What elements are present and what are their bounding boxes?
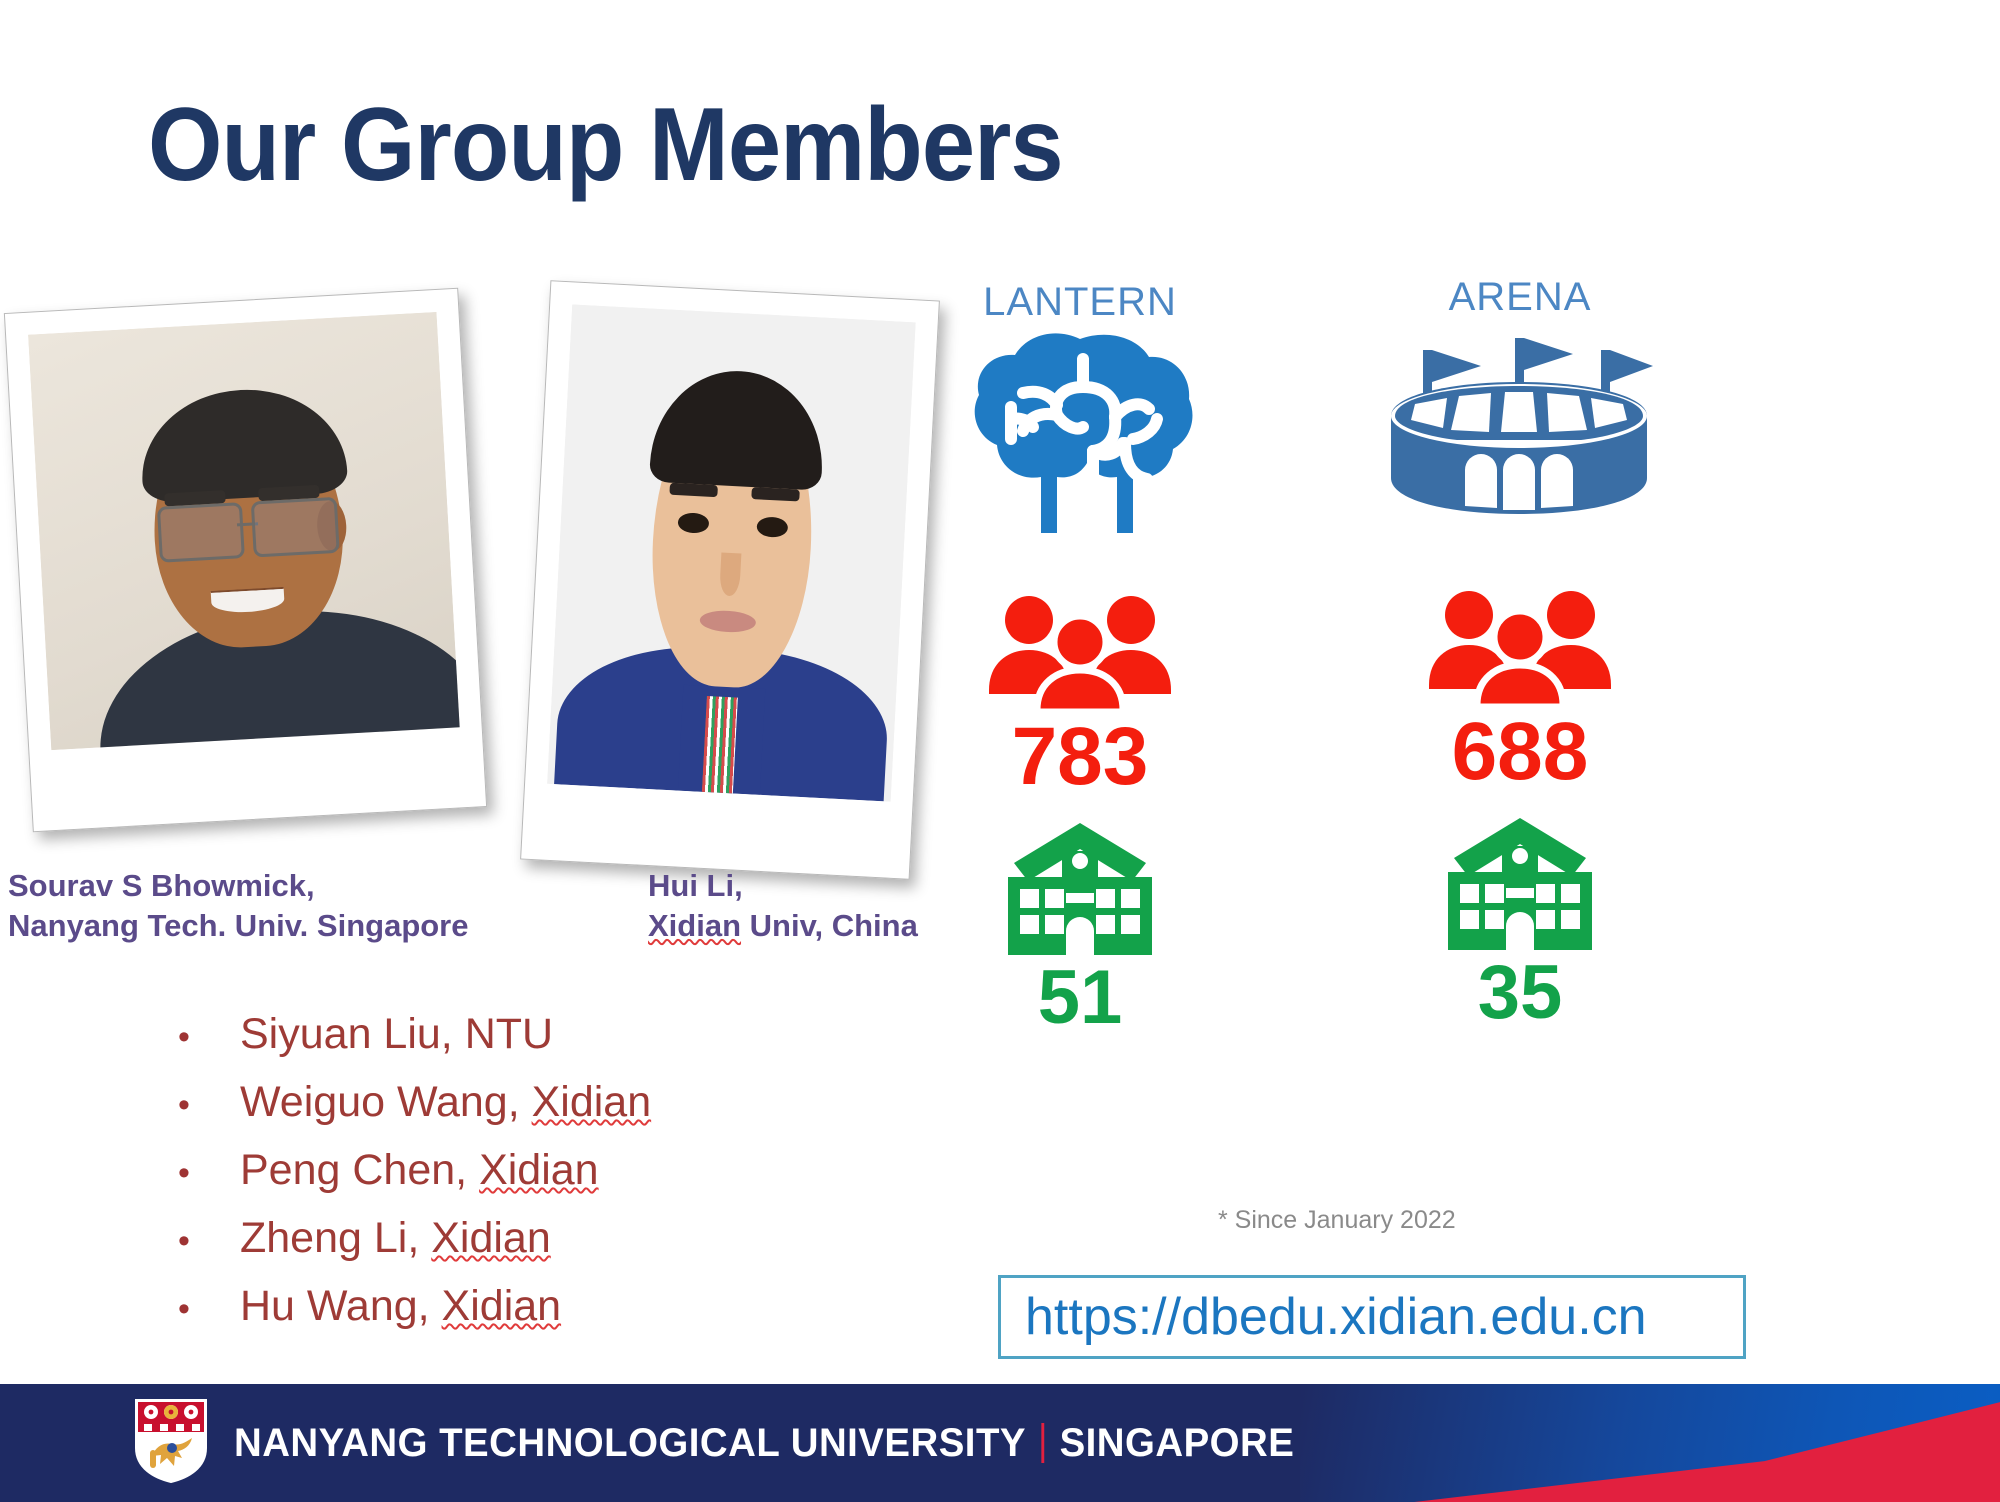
member-name: Weiguo Wang, Xidian [240, 1078, 651, 1127]
sourav-photo-frame [4, 288, 487, 833]
people-group-icon [1370, 587, 1670, 707]
spellcheck-word: Xidian [442, 1282, 562, 1330]
member-name: Siyuan Liu, NTU [240, 1010, 553, 1059]
spellcheck-word: Xidian [648, 908, 741, 943]
member-name-plain: Siyuan Liu, NTU [240, 1010, 553, 1058]
project-url-link[interactable]: https://dbedu.xidian.edu.cn [1001, 1287, 1647, 1347]
bullet-icon: • [178, 1088, 240, 1122]
ntu-shield-logo [134, 1398, 208, 1489]
slide-canvas: Our Group Members [0, 0, 2000, 1502]
hui-li-photo-frame [520, 280, 940, 880]
bullet-icon: • [178, 1224, 240, 1258]
spellcheck-word: Xidian [479, 1146, 599, 1194]
school-building-icon [930, 824, 1230, 954]
stadium-arena-icon [1370, 320, 1670, 535]
stat-column-arena: ARENA [1370, 275, 1670, 1033]
hui-li-portrait-image [547, 304, 916, 801]
page-title: Our Group Members [148, 86, 1063, 205]
sourav-caption-line2: Nanyang Tech. Univ. Singapore [8, 906, 469, 946]
member-list: • Siyuan Liu, NTU • Weiguo Wang, Xidian … [178, 1010, 651, 1350]
list-item: • Zheng Li, Xidian [178, 1214, 651, 1282]
bullet-icon: • [178, 1292, 240, 1326]
footer-bar: NANYANG TECHNOLOGICAL UNIVERSITY SINGAPO… [0, 1384, 2000, 1502]
member-name-plain: Hu Wang, [240, 1282, 442, 1330]
school-building-icon [1370, 819, 1670, 949]
list-item: • Weiguo Wang, Xidian [178, 1078, 651, 1146]
hui-li-caption-line2: Xidian Univ, China [648, 906, 918, 946]
member-name-plain: Zheng Li, [240, 1214, 431, 1262]
system-label-arena: ARENA [1370, 275, 1670, 320]
sourav-portrait-image [28, 312, 460, 750]
bullet-icon: • [178, 1020, 240, 1054]
bullet-icon: • [178, 1156, 240, 1190]
list-item: • Peng Chen, Xidian [178, 1146, 651, 1214]
footer-separator [1041, 1423, 1044, 1463]
hui-li-photo [547, 304, 916, 801]
sourav-photo [28, 312, 460, 750]
footer-university-name: NANYANG TECHNOLOGICAL UNIVERSITY SINGAPO… [234, 1421, 1294, 1466]
member-name: Zheng Li, Xidian [240, 1214, 551, 1263]
list-item: • Siyuan Liu, NTU [178, 1010, 651, 1078]
member-name: Peng Chen, Xidian [240, 1146, 599, 1195]
sourav-caption-line1: Sourav S Bhowmick, [8, 866, 469, 906]
member-name-plain: Weiguo Wang, [240, 1078, 532, 1126]
footnote: * Since January 2022 [1218, 1206, 1456, 1235]
brain-icon [930, 325, 1230, 540]
footer-country-text: SINGAPORE [1060, 1421, 1295, 1466]
footer-university-text: NANYANG TECHNOLOGICAL UNIVERSITY [234, 1421, 1026, 1466]
user-count-arena: 688 [1370, 709, 1670, 795]
institution-count-lantern: 51 [930, 958, 1230, 1038]
spellcheck-word: Xidian [431, 1214, 551, 1262]
hui-li-caption: Hui Li, Xidian Univ, China [648, 866, 918, 945]
stat-column-lantern: LANTERN [930, 280, 1230, 1038]
people-group-icon [930, 592, 1230, 712]
sourav-caption: Sourav S Bhowmick, Nanyang Tech. Univ. S… [8, 866, 469, 945]
hui-li-caption-line1: Hui Li, [648, 866, 918, 906]
member-name-plain: Peng Chen, [240, 1146, 479, 1194]
institution-count-arena: 35 [1370, 953, 1670, 1033]
member-name: Hu Wang, Xidian [240, 1282, 561, 1331]
url-box[interactable]: https://dbedu.xidian.edu.cn [998, 1275, 1746, 1359]
system-label-lantern: LANTERN [930, 280, 1230, 325]
list-item: • Hu Wang, Xidian [178, 1282, 651, 1350]
spellcheck-word: Xidian [532, 1078, 652, 1126]
hui-li-affiliation-rest: Univ, China [741, 908, 918, 943]
user-count-lantern: 783 [930, 714, 1230, 800]
